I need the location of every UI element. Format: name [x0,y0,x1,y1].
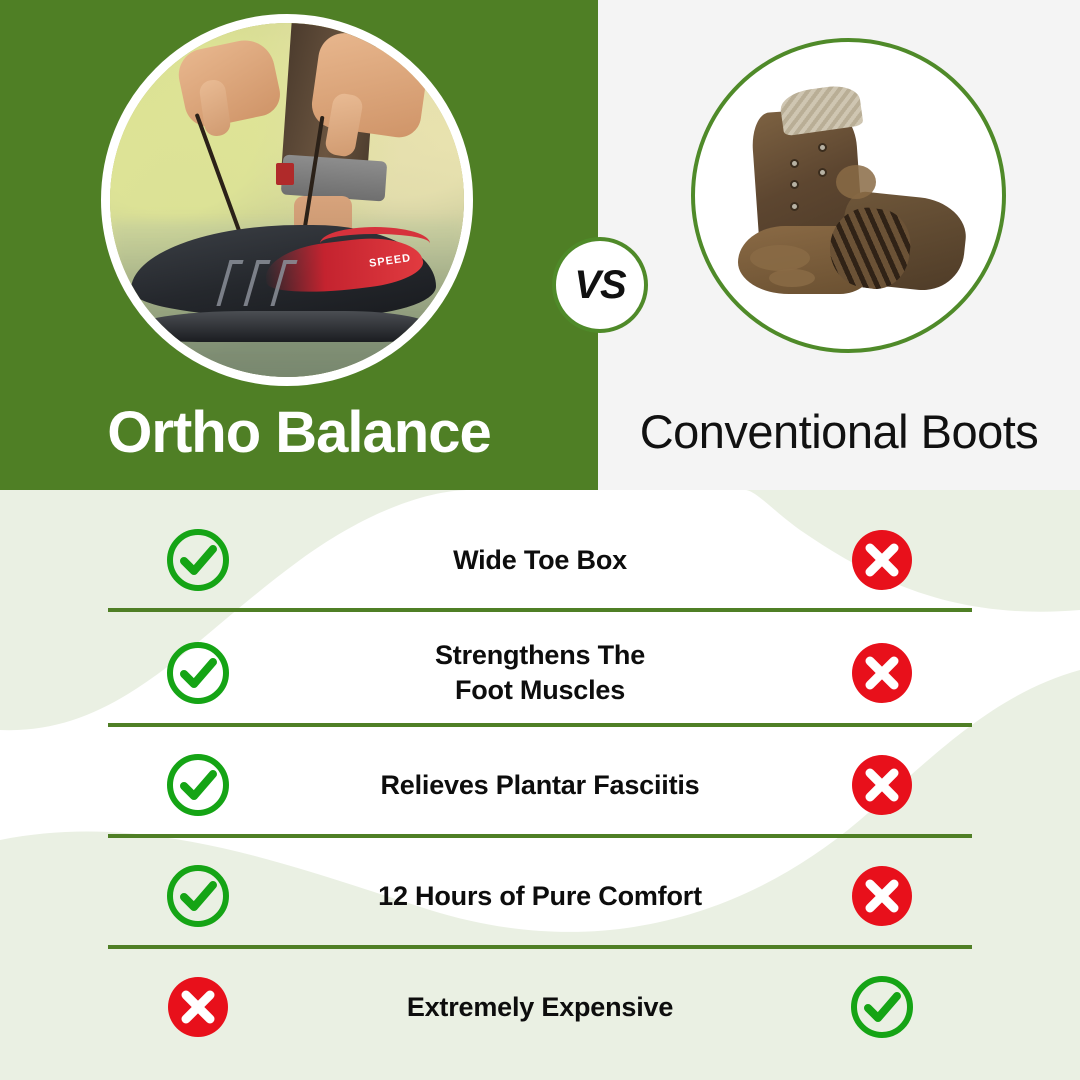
vs-badge: VS [552,237,648,333]
header-section: SPEED VS Ortho Balance Convent [0,0,1080,490]
table-row: Strengthens The Foot Muscles [108,618,972,728]
row-divider [108,945,972,949]
athletic-shoe: SPEED [131,225,435,342]
row-5-left-status [108,974,288,1040]
cross-circle-icon [849,640,915,706]
row-3-label: Relieves Plantar Fasciitis [288,768,792,803]
row-3-left-status [108,752,288,818]
product-photo-background: SPEED [110,23,464,377]
row-1-right-status [792,527,972,593]
row-1-label-line: Wide Toe Box [288,543,792,578]
row-5-right-status [792,974,972,1040]
boot-eyelet [818,168,827,177]
check-circle-icon [165,863,231,929]
row-2-right-status [792,640,972,706]
row-divider [108,723,972,727]
cross-circle-icon [849,752,915,818]
check-circle-icon [165,527,231,593]
vs-label: VS [574,263,625,308]
product-image-circle: SPEED [101,14,473,386]
boot-eyelet [790,202,799,211]
row-2-label-line: Foot Muscles [288,673,792,708]
trouser-cuff [280,154,387,201]
row-1-label: Wide Toe Box [288,543,792,578]
row-2-label-line: Strengthens The [288,638,792,673]
boot-eyelet [790,159,799,168]
shoe-sole [131,311,435,341]
feature-rows: Wide Toe Box [0,490,1080,1080]
cross-circle-icon [849,527,915,593]
table-row: Relieves Plantar Fasciitis [108,735,972,835]
row-3-label-line: Relieves Plantar Fasciitis [288,768,792,803]
comparison-table: Wide Toe Box [0,490,1080,1080]
row-4-left-status [108,863,288,929]
check-circle-icon [849,974,915,1040]
table-row: 12 Hours of Pure Comfort [108,846,972,946]
row-divider [108,608,972,612]
right-hand [309,30,431,140]
row-2-left-status [108,640,288,706]
check-circle-icon [165,640,231,706]
cross-circle-icon [165,974,231,1040]
check-circle-icon [165,752,231,818]
row-1-left-status [108,527,288,593]
row-4-label-line: 12 Hours of Pure Comfort [288,879,792,914]
mud-clump [750,245,810,271]
row-4-right-status [792,863,972,929]
competitor-title: Conventional Boots [598,408,1080,455]
boots-image-circle [691,38,1006,353]
table-row: Wide Toe Box [108,510,972,610]
row-3-right-status [792,752,972,818]
mud-clump [836,165,876,199]
shoe-collar [320,227,430,260]
row-5-label: Extremely Expensive [288,990,792,1025]
row-4-label: 12 Hours of Pure Comfort [288,879,792,914]
row-divider [108,834,972,838]
cuff-tag [276,163,294,185]
mud-clump [769,269,815,287]
row-2-label: Strengthens The Foot Muscles [288,638,792,707]
cross-circle-icon [849,863,915,929]
comparison-infographic: SPEED VS Ortho Balance Convent [0,0,1080,1080]
product-title: Ortho Balance [0,404,598,462]
table-row: Extremely Expensive [108,957,972,1057]
row-5-label-line: Extremely Expensive [288,990,792,1025]
